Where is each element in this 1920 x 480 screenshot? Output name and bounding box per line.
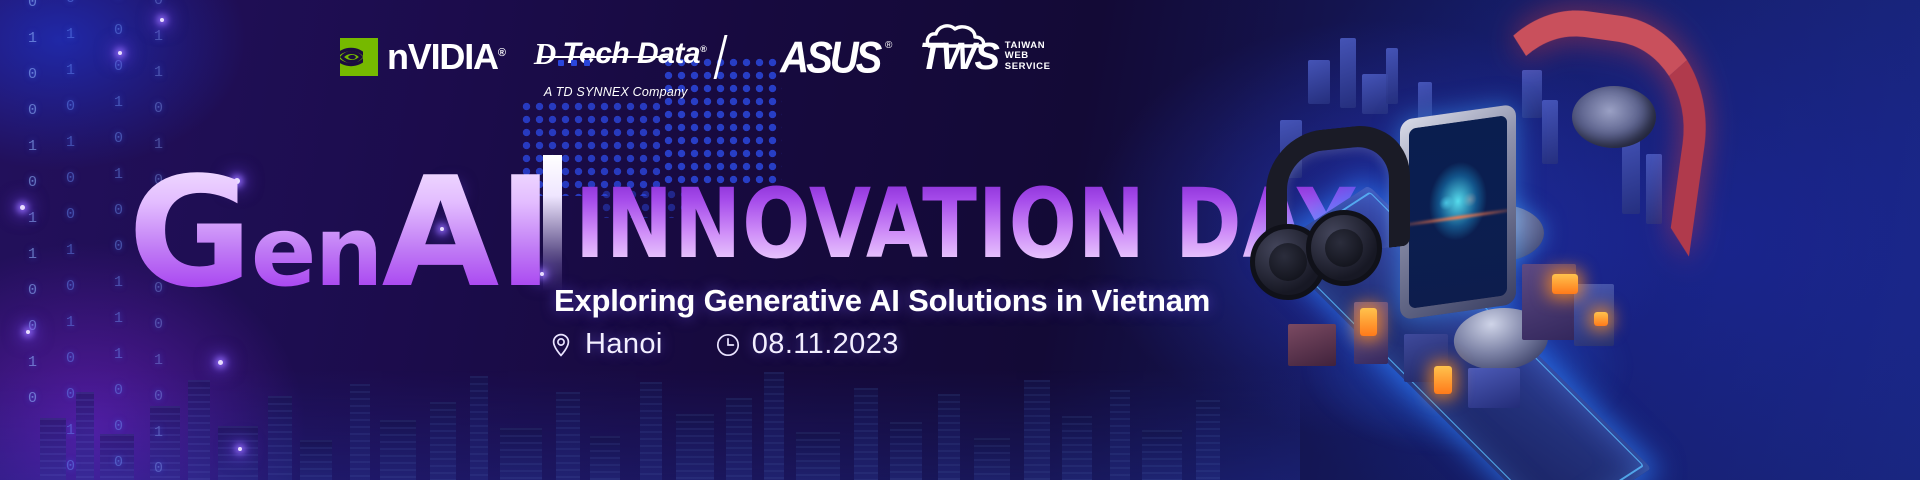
orange-light-accent <box>1552 274 1578 294</box>
orange-light-accent <box>1594 312 1608 326</box>
clock-icon <box>715 332 741 358</box>
orange-light-accent <box>1360 308 1377 336</box>
vertical-divider <box>543 155 562 291</box>
genai-letters-en: en <box>251 195 382 308</box>
illustration-block <box>1288 324 1336 366</box>
genai-letters-ai: AI <box>382 144 552 321</box>
genai-letter-g: G <box>128 144 251 321</box>
subtitle: Exploring Generative AI Solutions in Vie… <box>554 283 1210 319</box>
tablet-device <box>1400 104 1516 320</box>
location-label: Hanoi <box>585 328 663 361</box>
orange-light-accent <box>1434 366 1452 394</box>
event-location: Hanoi <box>548 328 663 361</box>
location-pin-icon <box>548 332 574 358</box>
isometric-ai-illustration <box>1222 8 1712 472</box>
event-date: 08.11.2023 <box>715 328 899 361</box>
genai-brand-title: GenAI <box>128 168 552 299</box>
illustration-block <box>1468 368 1520 408</box>
date-label: 08.11.2023 <box>752 328 899 361</box>
headphones-prop <box>1250 128 1382 304</box>
genai-innovation-day-banner: 0 1 0 0 1 0 1 1 0 0 1 0 0 1 1 0 1 0 0 1 … <box>0 0 1920 480</box>
event-meta-row: Hanoi 08.11.2023 <box>548 328 899 361</box>
spiral-disc-prop <box>1572 86 1656 148</box>
headline-block: GenAI INNOVATION DAY Exploring Generativ… <box>0 0 1230 480</box>
ai-face-screen <box>1409 115 1507 309</box>
headphone-earcup-right <box>1306 210 1382 286</box>
